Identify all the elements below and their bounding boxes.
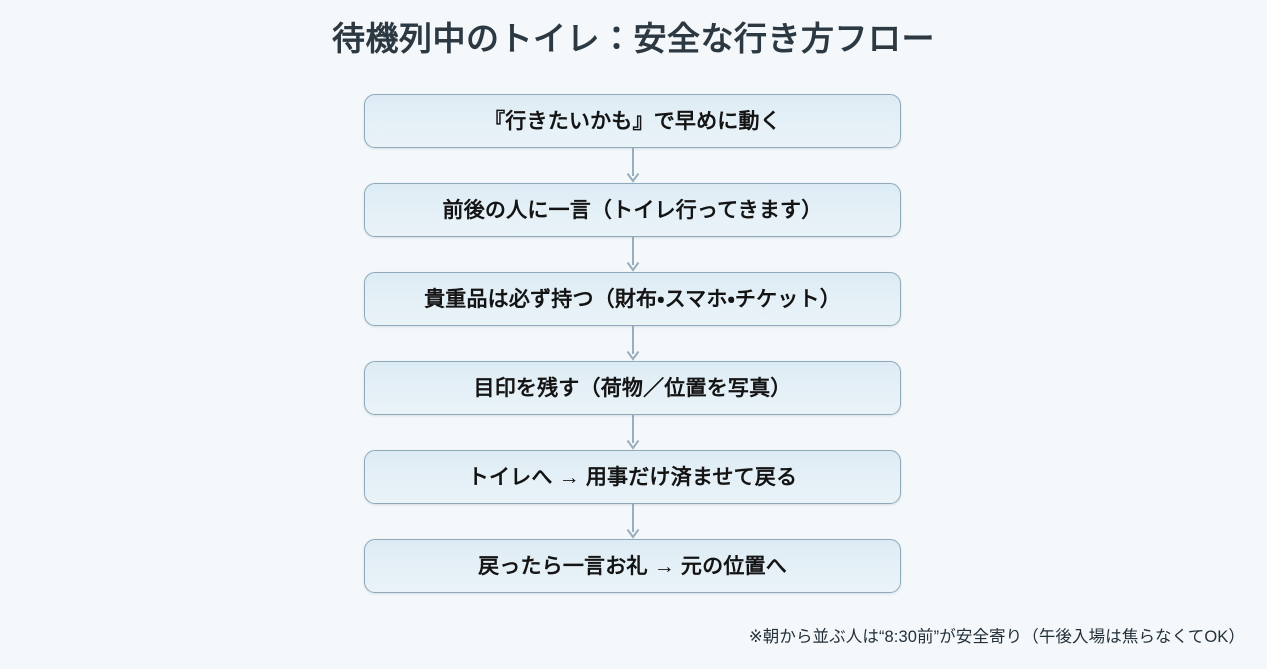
flow-node-5[interactable]: トイレへ → 用事だけ済ませて戻る xyxy=(364,450,901,504)
flow-node-1[interactable]: 『行きたいかも』で早めに動く xyxy=(364,94,901,148)
flow-node-6[interactable]: 戻ったら一言お礼 → 元の位置へ xyxy=(364,539,901,593)
flow-node-3-label: 貴重品は必ず持つ（財布・スマホ・チケット） xyxy=(424,289,841,310)
flow-connector-1 xyxy=(364,148,901,183)
flow-connector-4 xyxy=(364,415,901,450)
flow-node-6-label: 戻ったら一言お礼 → 元の位置へ xyxy=(478,556,787,577)
slide-canvas: 待機列中のトイレ：安全な行き方フロー 『行きたいかも』で早めに動く 前後の人に一… xyxy=(0,0,1267,669)
flow-node-4-label: 目印を残す（荷物／位置を写真） xyxy=(474,378,792,399)
flow-node-2-label: 前後の人に一言（トイレ行ってきます） xyxy=(443,200,823,221)
flowchart: 『行きたいかも』で早めに動く 前後の人に一言（トイレ行ってきます） 貴重品は必ず… xyxy=(364,94,901,593)
arrow-down-icon xyxy=(625,415,641,450)
arrow-down-icon xyxy=(625,237,641,272)
page-title: 待機列中のトイレ：安全な行き方フロー xyxy=(0,18,1267,59)
footnote-text: ※朝から並ぶ人は“8:30前”が安全寄り（午後入場は焦らなくてOK） xyxy=(749,623,1245,647)
arrow-down-icon xyxy=(625,148,641,183)
flow-connector-5 xyxy=(364,504,901,539)
flow-node-2[interactable]: 前後の人に一言（トイレ行ってきます） xyxy=(364,183,901,237)
flow-node-4[interactable]: 目印を残す（荷物／位置を写真） xyxy=(364,361,901,415)
flow-node-1-label: 『行きたいかも』で早めに動く xyxy=(484,111,781,132)
flow-connector-2 xyxy=(364,237,901,272)
flow-node-5-label: トイレへ → 用事だけ済ませて戻る xyxy=(468,467,797,488)
flow-node-3[interactable]: 貴重品は必ず持つ（財布・スマホ・チケット） xyxy=(364,272,901,326)
flow-connector-3 xyxy=(364,326,901,361)
arrow-down-icon xyxy=(625,326,641,361)
arrow-down-icon xyxy=(625,504,641,539)
